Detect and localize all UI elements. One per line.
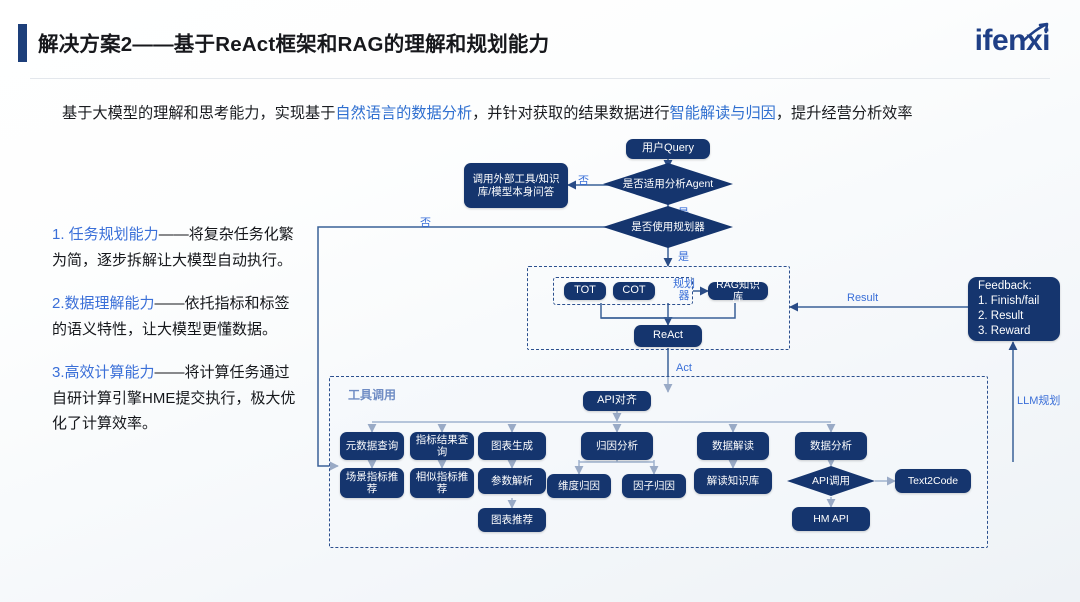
node-metric-result-query-label: 指标结果查询	[413, 434, 471, 459]
node-factor-attribution-label: 因子归因	[633, 480, 675, 493]
feedback-line-1: 1. Finish/fail	[978, 294, 1039, 309]
node-data-analysis[interactable]: 数据分析	[795, 432, 867, 460]
node-data-analysis-label: 数据分析	[810, 440, 852, 453]
feedback-line-3: 3. Reward	[978, 324, 1039, 339]
node-external-tool-label: 调用外部工具/知识库/模型本身问答	[467, 173, 565, 198]
node-chart-rec[interactable]: 图表推荐	[478, 508, 546, 532]
node-attribution-label: 归因分析	[596, 440, 638, 453]
node-chart-rec-label: 图表推荐	[491, 514, 533, 527]
node-hm-api[interactable]: HM API	[792, 507, 870, 531]
node-tot-label: TOT	[574, 284, 596, 298]
node-api-align[interactable]: API对齐	[583, 391, 651, 411]
node-metric-result-query[interactable]: 指标结果查询	[410, 432, 474, 460]
edge-label-planner: 规划器	[672, 278, 696, 302]
diamond-is-agent-suitable[interactable]: 是否适用分析Agent	[603, 163, 733, 205]
node-data-interpret-label: 数据解读	[712, 440, 754, 453]
node-external-tool[interactable]: 调用外部工具/知识库/模型本身问答	[464, 163, 568, 208]
node-hm-api-label: HM API	[813, 513, 849, 526]
node-similar-metric-rec[interactable]: 相似指标推荐	[410, 468, 474, 498]
edge-label-no-2: 否	[420, 214, 431, 230]
node-factor-attribution[interactable]: 因子归因	[622, 474, 686, 498]
feedback-line-2: 2. Result	[978, 309, 1039, 324]
diamond-use-planner[interactable]: 是否使用规划器	[603, 206, 733, 248]
node-feedback[interactable]: Feedback: 1. Finish/fail 2. Result 3. Re…	[968, 277, 1060, 341]
node-cot[interactable]: COT	[613, 282, 655, 300]
node-meta-query-label: 元数据查询	[346, 440, 399, 453]
node-similar-metric-rec-label: 相似指标推荐	[413, 471, 471, 496]
node-feedback-text: Feedback: 1. Finish/fail 2. Result 3. Re…	[978, 279, 1039, 339]
edge-label-yes-2: 是	[678, 248, 689, 264]
node-text2code[interactable]: Text2Code	[895, 469, 971, 493]
flowchart-canvas: 用户Query 调用外部工具/知识库/模型本身问答 是否适用分析Agent 是否…	[0, 0, 1080, 602]
node-react-label: ReAct	[653, 329, 683, 343]
node-user-query[interactable]: 用户Query	[626, 139, 710, 159]
node-interpret-kb-label: 解读知识库	[707, 475, 760, 488]
node-rag-kb[interactable]: RAG知识库	[708, 282, 768, 300]
node-user-query-label: 用户Query	[642, 142, 694, 156]
node-scene-metric-rec[interactable]: 场景指标推荐	[340, 468, 404, 498]
edge-label-no-1: 否	[578, 172, 589, 188]
node-meta-query[interactable]: 元数据查询	[340, 432, 404, 460]
node-data-interpret[interactable]: 数据解读	[697, 432, 769, 460]
feedback-line-0: Feedback:	[978, 279, 1039, 294]
node-rag-kb-label: RAG知识库	[711, 279, 765, 304]
diamond-api-call-label: API调用	[806, 475, 856, 488]
edge-label-result: Result	[847, 292, 878, 304]
node-api-align-label: API对齐	[597, 394, 637, 408]
node-scene-metric-rec-label: 场景指标推荐	[343, 471, 401, 496]
diamond-use-planner-label: 是否使用规划器	[625, 221, 711, 234]
edge-label-act: Act	[676, 362, 692, 374]
node-chart-gen-label: 图表生成	[491, 440, 533, 453]
node-tot[interactable]: TOT	[564, 282, 606, 300]
tool-call-region	[329, 376, 988, 548]
node-dim-attribution-label: 维度归因	[558, 480, 600, 493]
node-param-parse[interactable]: 参数解析	[478, 468, 546, 494]
diamond-api-call[interactable]: API调用	[787, 466, 875, 496]
node-attribution[interactable]: 归因分析	[581, 432, 653, 460]
node-text2code-label: Text2Code	[908, 475, 958, 488]
node-interpret-kb[interactable]: 解读知识库	[694, 468, 772, 494]
edge-label-llm-plan: LLM规划	[1017, 392, 1060, 408]
node-cot-label: COT	[622, 284, 645, 298]
diamond-is-agent-suitable-label: 是否适用分析Agent	[617, 178, 719, 191]
node-param-parse-label: 参数解析	[491, 475, 533, 488]
node-chart-gen[interactable]: 图表生成	[478, 432, 546, 460]
tool-call-caption: 工具调用	[348, 386, 396, 403]
node-dim-attribution[interactable]: 维度归因	[547, 474, 611, 498]
node-react[interactable]: ReAct	[634, 325, 702, 347]
